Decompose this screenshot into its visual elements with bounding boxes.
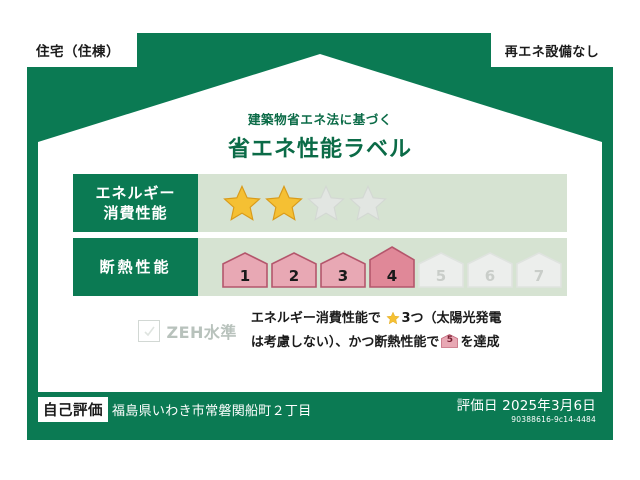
inline-level-chip: 5 [441, 334, 458, 348]
energy-label-line2: 消費性能 [103, 203, 167, 223]
insulation-level-7: 7 [516, 252, 562, 288]
star-filled-icon [222, 183, 262, 223]
page-title: 省エネ性能ラベル [38, 131, 602, 163]
self-evaluation-badge: 自己評価 [38, 397, 108, 422]
renewable-energy-tab: 再エネ設備なし [491, 33, 613, 67]
label-footer: 自己評価 福島県いわき市常磐関船町２丁目 評価日 2025年3月6日 90388… [38, 392, 602, 426]
insulation-performance-row: 断熱性能 1234567 [73, 238, 567, 296]
performance-rows: エネルギー 消費性能 断熱性能 1234567 [73, 174, 567, 302]
zeh-check-icon [138, 320, 160, 342]
star-rating [222, 183, 388, 223]
zeh-row: ZEH水準 エネルギー消費性能で 3つ（太陽光発電 は考慮しない）、かつ断熱性能… [38, 309, 602, 354]
zeh-desc-line2-a: は考慮しない）、かつ断熱性能で [251, 335, 440, 350]
building-type-label: 住宅（住棟） [36, 40, 120, 60]
zeh-desc-line1-a: エネルギー消費性能で [251, 311, 381, 326]
insulation-level-6: 6 [467, 252, 513, 288]
title-subtitle: 建築物省エネ法に基づく [38, 109, 602, 128]
zeh-desc-line1-b: 3つ（太陽光発電 [401, 311, 501, 326]
zeh-description-line1: エネルギー消費性能で 3つ（太陽光発電 [251, 309, 502, 333]
footer-right-block: 評価日 2025年3月6日 90388616-9c14-4484 [457, 394, 602, 424]
insulation-level-5: 5 [418, 252, 464, 288]
insulation-performance-value: 1234567 [198, 238, 567, 296]
zeh-description: エネルギー消費性能で 3つ（太陽光発電 は考慮しない）、かつ断熱性能で 5を達成 [251, 309, 502, 354]
inline-chip-number: 5 [441, 333, 458, 347]
insulation-level-number: 5 [418, 267, 464, 285]
energy-performance-label-card: 住宅（住棟） 再エネ設備なし 建築物省エネ法に基づく 省エネ性能ラベル エネルギ… [27, 33, 613, 440]
insulation-level-4: 4 [369, 246, 415, 288]
renewable-energy-label: 再エネ設備なし [505, 41, 600, 60]
title-block: 建築物省エネ法に基づく 省エネ性能ラベル [38, 109, 602, 163]
evaluation-date: 評価日 2025年3月6日 [457, 394, 596, 414]
inline-star-icon [382, 314, 401, 329]
insulation-level-number: 2 [271, 267, 317, 285]
insulation-level-3: 3 [320, 252, 366, 288]
insulation-level-number: 6 [467, 267, 513, 285]
zeh-description-line2: は考慮しない）、かつ断熱性能で 5を達成 [251, 333, 502, 354]
house-content: 建築物省エネ法に基づく 省エネ性能ラベル エネルギー 消費性能 [38, 54, 602, 392]
evaluation-id: 90388616-9c14-4484 [457, 415, 596, 424]
insulation-level-number: 3 [320, 267, 366, 285]
insulation-level-number: 7 [516, 267, 562, 285]
insulation-level-2: 2 [271, 252, 317, 288]
energy-consumption-label: エネルギー 消費性能 [73, 174, 198, 232]
zeh-badge: ZEH水準 [138, 319, 236, 343]
star-empty-icon [348, 183, 388, 223]
insulation-level-1: 1 [222, 252, 268, 288]
label-canvas: 住宅（住棟） 再エネ設備なし 建築物省エネ法に基づく 省エネ性能ラベル エネルギ… [0, 0, 640, 480]
energy-label-line1: エネルギー [95, 183, 175, 203]
insulation-performance-label: 断熱性能 [73, 238, 198, 296]
zeh-desc-line2-b: を達成 [460, 335, 499, 350]
building-type-tab: 住宅（住棟） [27, 33, 137, 67]
energy-consumption-row: エネルギー 消費性能 [73, 174, 567, 232]
property-address: 福島県いわき市常磐関船町２丁目 [112, 400, 312, 419]
star-filled-icon [264, 183, 304, 223]
insulation-label-text: 断熱性能 [99, 257, 171, 277]
insulation-level-number: 4 [369, 267, 415, 285]
zeh-label: ZEH水準 [166, 319, 236, 343]
insulation-level-number: 1 [222, 267, 268, 285]
energy-consumption-value [198, 174, 567, 232]
insulation-level-chips: 1234567 [222, 246, 562, 288]
star-empty-icon [306, 183, 346, 223]
